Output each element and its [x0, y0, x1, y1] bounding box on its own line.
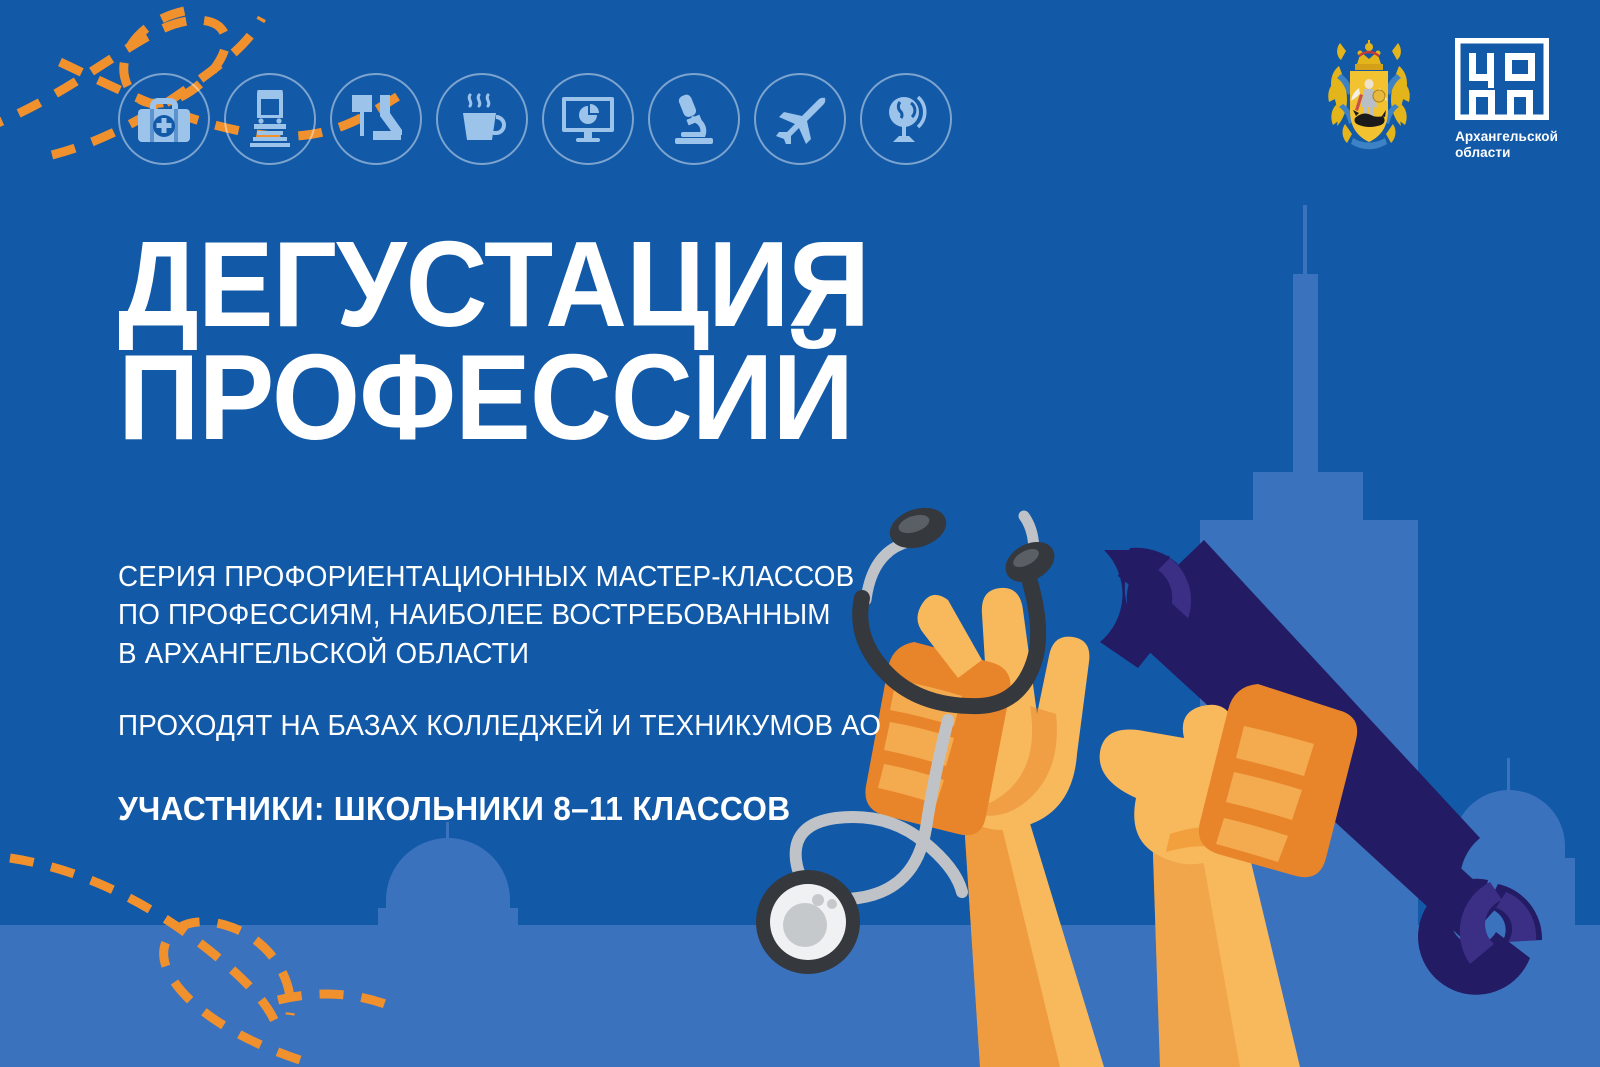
headline-line-1: ДЕГУСТАЦИЯ — [118, 228, 869, 341]
body-copy: СЕРИЯ ПРОФОРИЕНТАЦИОННЫХ МАСТЕР-КЛАССОВ … — [118, 558, 913, 831]
right-hand-with-wrench — [1100, 684, 1358, 1067]
construction-tools-icon — [330, 73, 422, 165]
profession-icon-strip — [118, 73, 952, 165]
logo-group: Архангельской области — [1323, 38, 1558, 162]
copp-logo-mark — [1455, 38, 1549, 120]
venue-line: ПРОХОДЯТ НА БАЗАХ КОЛЛЕДЖЕЙ И ТЕХНИКУМОВ… — [118, 707, 881, 745]
coffee-cup-icon — [436, 73, 528, 165]
copp-subtitle-line2: области — [1455, 145, 1558, 161]
first-aid-kit-icon — [118, 73, 210, 165]
microscope-icon — [648, 73, 740, 165]
globe-icon — [860, 73, 952, 165]
page-title: ДЕГУСТАЦИЯ ПРОФЕССИЙ — [118, 228, 926, 455]
description-line-3: В АРХАНГЕЛЬСКОЙ ОБЛАСТИ — [118, 635, 881, 673]
copp-logo-subtitle: Архангельской области — [1455, 129, 1558, 162]
poster-canvas: Архангельской области — [0, 0, 1600, 1067]
airplane-icon — [754, 73, 846, 165]
train-icon — [224, 73, 316, 165]
copp-logo: Архангельской области — [1455, 38, 1558, 162]
participants-line: УЧАСТНИКИ: ШКОЛЬНИКИ 8–11 КЛАССОВ — [118, 787, 881, 831]
copp-subtitle-line1: Архангельской — [1455, 129, 1558, 145]
description-line-2: ПО ПРОФЕССИЯМ, НАИБОЛЕЕ ВОСТРЕБОВАННЫМ — [118, 596, 881, 634]
headline-line-2: ПРОФЕССИЙ — [118, 341, 869, 454]
computer-chart-icon — [542, 73, 634, 165]
arkhangelsk-coat-of-arms — [1323, 38, 1415, 154]
description-line-1: СЕРИЯ ПРОФОРИЕНТАЦИОННЫХ МАСТЕР-КЛАССОВ — [118, 558, 881, 596]
